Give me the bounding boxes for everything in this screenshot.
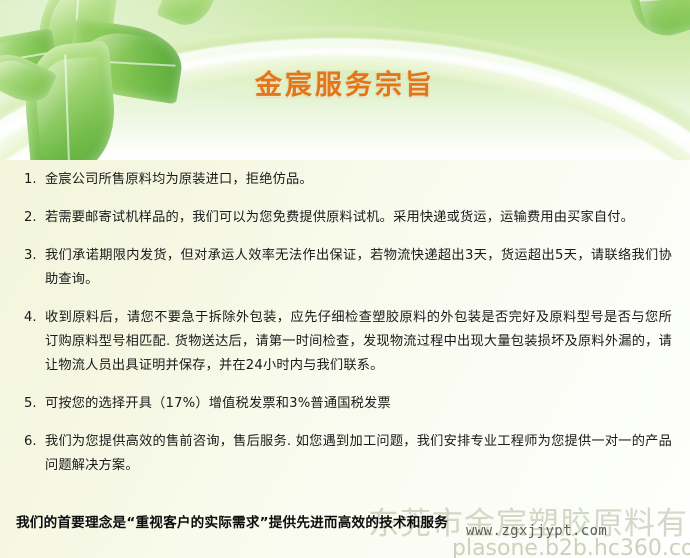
service-policy-list: 1. 金宸公司所售原料均为原装进口，拒绝仿品。 2. 若需要邮寄试机样品的，我们… <box>0 168 690 492</box>
page-title: 金宸服务宗旨 <box>0 63 690 102</box>
leaf-vein <box>639 0 690 2</box>
list-item-number: 6. <box>24 430 45 454</box>
closing-statement: 我们的首要理念是“重视客户的实际需求”提供先进而高效的技术和服务 <box>16 512 676 534</box>
list-item: 4. 收到原料后，请您不要急于拆除外包装，应先仔细检查塑胶原料的外包装是否完好及… <box>0 306 690 378</box>
list-item: 2. 若需要邮寄试机样品的，我们可以为您免费提供原料试机。采用快递或货运，运输费… <box>0 206 690 230</box>
list-item-number: 3. <box>24 244 45 268</box>
list-item-number: 4. <box>24 306 45 330</box>
list-item: 5. 可按您的选择开具（17%）增值税发票和3%普通国税发票 <box>0 392 690 416</box>
list-item-text: 收到原料后，请您不要急于拆除外包装，应先仔细检查塑胶原料的外包装是否完好及原料型… <box>45 306 672 378</box>
list-item-number: 1. <box>24 168 45 192</box>
header-banner: 金宸服务宗旨 <box>0 0 690 160</box>
list-item: 1. 金宸公司所售原料均为原装进口，拒绝仿品。 <box>0 168 690 192</box>
list-item-text: 可按您的选择开具（17%）增值税发票和3%普通国税发票 <box>45 392 672 416</box>
list-item-text: 金宸公司所售原料均为原装进口，拒绝仿品。 <box>45 168 672 192</box>
site-watermark-secondary: plasone.b2b.hc360.com <box>452 536 690 558</box>
list-item: 6. 我们为您提供高效的售前咨询，售后服务. 如您遇到加工问题，我们安排专业工程… <box>0 430 690 478</box>
list-item-number: 2. <box>24 206 45 230</box>
list-item-text: 若需要邮寄试机样品的，我们可以为您免费提供原料试机。采用快递或货运，运输费用由买… <box>45 206 672 230</box>
list-item: 3. 我们承诺期限内发货，但对承运人效率无法作出保证，若物流快递超出3天，货运超… <box>0 244 690 292</box>
list-item-number: 5. <box>24 392 45 416</box>
page-root: 金宸服务宗旨 1. 金宸公司所售原料均为原装进口，拒绝仿品。 2. 若需要邮寄试… <box>0 0 690 558</box>
list-item-text: 我们为您提供高效的售前咨询，售后服务. 如您遇到加工问题，我们安排专业工程师为您… <box>45 430 672 478</box>
list-item-text: 我们承诺期限内发货，但对承运人效率无法作出保证，若物流快递超出3天，货运超出5天… <box>45 244 672 292</box>
